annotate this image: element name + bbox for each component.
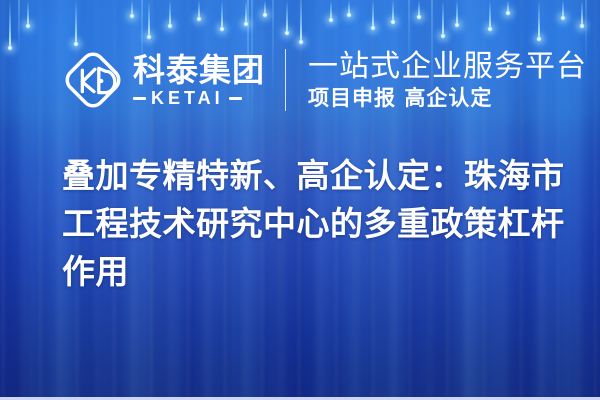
meteor xyxy=(330,0,332,20)
meteor xyxy=(9,0,11,48)
meteor xyxy=(581,0,583,26)
brand-name-en-row: KETAI xyxy=(133,89,265,107)
meteor xyxy=(300,0,302,42)
meteor xyxy=(507,0,509,13)
brand-name-cn: 科泰集团 xyxy=(133,53,265,87)
meteor xyxy=(75,0,77,44)
tagline-primary: 一站式企业服务平台 xyxy=(308,50,587,84)
tagline-secondary: 项目申报 高企认定 xyxy=(308,85,587,111)
meteor xyxy=(489,0,491,29)
ketai-diamond-kd-logo-icon xyxy=(62,49,124,111)
meteor xyxy=(372,0,374,28)
meteor xyxy=(27,0,29,26)
brand-wordmark: 科泰集团 KETAI xyxy=(133,53,265,107)
dash-left-icon xyxy=(133,97,146,100)
meteor xyxy=(221,0,223,29)
meteor xyxy=(562,0,564,18)
meteor xyxy=(148,0,150,37)
meteor xyxy=(442,0,444,36)
meteor xyxy=(198,0,200,19)
meteor xyxy=(286,0,288,33)
meteor xyxy=(245,0,247,24)
meteor xyxy=(538,0,540,39)
meteor xyxy=(418,0,420,17)
brand-name-en: KETAI xyxy=(151,89,224,107)
meteor xyxy=(169,0,171,26)
banner-image: 科泰集团 KETAI 一站式企业服务平台 项目申报 高企认定 叠加专精特新、高企… xyxy=(0,0,600,400)
brand-logo[interactable]: 科泰集团 KETAI xyxy=(62,49,265,111)
meteor xyxy=(264,0,266,15)
meteor xyxy=(348,0,350,15)
meteor xyxy=(456,0,458,25)
header-divider xyxy=(285,49,286,111)
banner-header: 科泰集团 KETAI 一站式企业服务平台 项目申报 高企认定 xyxy=(0,44,600,116)
brand-tagline: 一站式企业服务平台 项目申报 高企认定 xyxy=(308,50,587,111)
meteor xyxy=(392,0,394,22)
meteor xyxy=(131,0,133,16)
page-title: 叠加专精特新、高企认定：珠海市工程技术研究中心的多重政策杠杆作用 xyxy=(62,152,567,296)
dash-right-icon xyxy=(229,97,242,100)
